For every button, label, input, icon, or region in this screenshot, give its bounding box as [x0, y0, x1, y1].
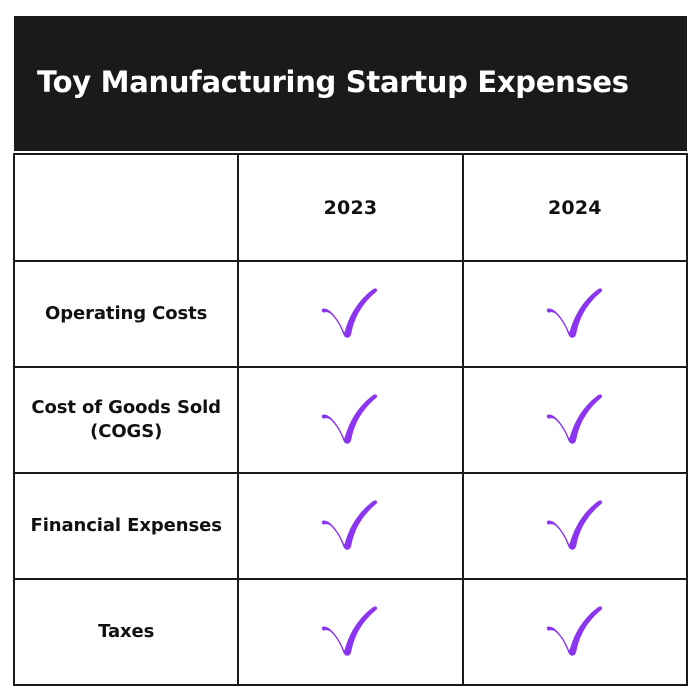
title-cell: Toy Manufacturing Startup Expenses: [14, 13, 687, 154]
row-0-value-2024: [463, 261, 687, 367]
row-1-value-2023: [238, 367, 462, 473]
page-title: Toy Manufacturing Startup Expenses: [37, 66, 629, 99]
check-mark-icon: [240, 581, 460, 683]
expenses-comparison-table: Toy Manufacturing Startup Expenses 2023 …: [13, 13, 688, 686]
row-label: Financial Expenses: [16, 514, 236, 538]
check-mark-icon: [465, 475, 685, 577]
row-label: Cost of Goods Sold (COGS): [16, 396, 236, 444]
row-label: Taxes: [16, 620, 236, 644]
column-header-2023: 2023: [238, 154, 462, 261]
row-1-value-2024: [463, 367, 687, 473]
check-mark-icon: [465, 581, 685, 683]
check-mark-icon: [240, 475, 460, 577]
row-label-cell: Operating Costs: [14, 261, 238, 367]
check-mark-icon: [240, 263, 460, 365]
corner-blank-cell: [14, 154, 238, 261]
title-band: Toy Manufacturing Startup Expenses: [14, 16, 687, 151]
row-2-value-2024: [463, 473, 687, 579]
table-row: Cost of Goods Sold (COGS): [14, 367, 687, 473]
check-mark-icon: [465, 369, 685, 471]
row-label-cell: Financial Expenses: [14, 473, 238, 579]
row-2-value-2023: [238, 473, 462, 579]
check-mark-icon: [240, 369, 460, 471]
row-label: Operating Costs: [16, 302, 236, 326]
comparison-table-container: Toy Manufacturing Startup Expenses 2023 …: [13, 13, 688, 686]
row-3-value-2024: [463, 579, 687, 685]
column-header-row: 2023 2024: [14, 154, 687, 261]
row-3-value-2023: [238, 579, 462, 685]
table-row: Taxes: [14, 579, 687, 685]
table-row: Operating Costs: [14, 261, 687, 367]
table-row: Financial Expenses: [14, 473, 687, 579]
row-label-cell: Cost of Goods Sold (COGS): [14, 367, 238, 473]
title-row: Toy Manufacturing Startup Expenses: [14, 13, 687, 154]
check-mark-icon: [465, 263, 685, 365]
column-header-label: 2024: [548, 197, 602, 219]
row-label-cell: Taxes: [14, 579, 238, 685]
column-header-2024: 2024: [463, 154, 687, 261]
column-header-label: 2023: [324, 197, 378, 219]
row-0-value-2023: [238, 261, 462, 367]
